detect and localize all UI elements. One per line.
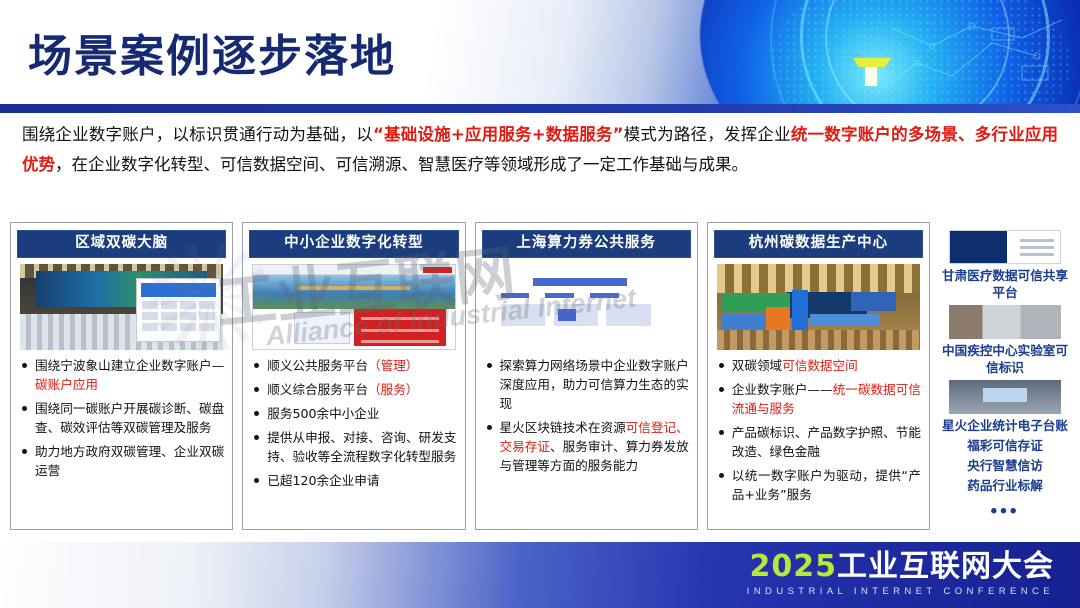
plain-text: 围绕企业数字账户，以标识贯通行动为基础，以 [22, 125, 373, 144]
plain-text: 顺义公共服务平台 [267, 358, 368, 373]
more-items-ellipsis: ••• [991, 501, 1020, 523]
case-label: 福彩可信存证 [967, 437, 1043, 454]
plain-text: 顺义综合服务平台 [267, 382, 368, 397]
plain-text: 已超120余企业申请 [267, 473, 379, 488]
plain-text: 双碳领域 [732, 358, 782, 373]
case-label: 中国疾控中心实验室可信标识 [941, 342, 1069, 376]
card-image-light-dashboard [485, 264, 688, 350]
card-image-ornate-hall [717, 264, 920, 350]
card-bullet-item: 助力地方政府双碳管理、企业双碳运营 [21, 442, 224, 480]
title-underline-bar [0, 104, 1080, 113]
case-label: 央行智慧信访 [967, 457, 1043, 474]
card-bullet-item: 已超120余企业申请 [253, 471, 456, 490]
case-card[interactable]: 上海算力券公共服务 探索算力网络场景中企业数字账户深度应用，助力可信算力生态的实… [475, 222, 698, 530]
case-label: 药品行业标解 [967, 477, 1043, 494]
plain-text: 企业数字账户—— [732, 382, 833, 397]
conference-t-logo-icon [849, 52, 895, 92]
case-card[interactable]: 区域双碳大脑 围绕宁波象山建立企业数字账户—碳账户应用围绕同一碳账户开展碳诊断、… [10, 222, 233, 530]
highlighted-text: 碳账户应用 [35, 377, 98, 392]
card-bullet-item: 企业数字账户——统一碳数据可信流通与服务 [718, 380, 921, 418]
highlighted-text: 可信数据空间 [782, 358, 858, 373]
plain-text: 以统一数字账户为驱动，提供“产品+业务”服务 [732, 468, 921, 502]
plain-text: 助力地方政府双碳管理、企业双碳运营 [35, 444, 224, 478]
page-title: 场景案例逐步落地 [28, 20, 396, 84]
card-bullet-item: 星火区块链技术在资源可信登记、交易存证、服务审计、算力券发放与管理等方面的服务能… [486, 418, 689, 475]
highlighted-text: （服务） [368, 382, 418, 397]
case-card[interactable]: 中小企业数字化转型 顺义公共服务平台（管理）顺义综合服务平台（服务）服务500余… [242, 222, 465, 530]
thumb-lab-equipment [949, 305, 1061, 339]
plain-text: 围绕宁波象山建立企业数字账户— [35, 358, 224, 373]
case-card[interactable]: 杭州碳数据生产中心 双碳领域可信数据空间企业数字账户——统一碳数据可信流通与服务… [707, 222, 930, 530]
slide-footer-banner: 2025工业互联网大会 INDUSTRIAL INTERNET CONFEREN… [0, 542, 1080, 608]
plain-text: ，在企业数字化转型、可信数据空间、可信溯源、智慧医疗等领域形成了一定工作基础与成… [55, 155, 748, 174]
thumb-meeting-room [949, 380, 1061, 414]
card-bullet-item: 提供从申报、对接、咨询、研发支持、验收等全流程数字化转型服务 [253, 428, 456, 466]
slide-root: 场景案例逐步落地 围绕企业数字账户，以标识贯通行动为基础，以“基础设施+应用服务… [0, 0, 1080, 608]
card-bullet-item: 围绕同一碳账户开展碳诊断、碳盘查、碳效评估等双碳管理及服务 [21, 399, 224, 437]
card-bullet-item: 顺义综合服务平台（服务） [253, 380, 456, 399]
card-bullet-item: 服务500余中小企业 [253, 404, 456, 423]
card-image-conference-hall [20, 264, 223, 350]
card-bullet-list: 探索算力网络场景中企业数字账户深度应用，助力可信算力生态的实现星火区块链技术在资… [486, 356, 689, 480]
footer-name-cn: 工业互联网大会 [837, 549, 1054, 584]
footer-name-en: INDUSTRIAL INTERNET CONFERENCE [747, 587, 1054, 597]
highlighted-text: （管理） [368, 358, 418, 373]
case-label: 星火企业统计电子台账 [942, 417, 1068, 434]
card-title: 区域双碳大脑 [17, 230, 226, 258]
card-bullet-list: 双碳领域可信数据空间企业数字账户——统一碳数据可信流通与服务产品碳标识、产品数字… [718, 356, 921, 509]
plain-text: 星火区块链技术在资源 [500, 420, 626, 435]
card-bullet-item: 顺义公共服务平台（管理） [253, 356, 456, 375]
thumb-presentation-document [949, 230, 1061, 264]
card-image-website-screenshot [252, 264, 455, 350]
card-bullet-list: 围绕宁波象山建立企业数字账户—碳账户应用围绕同一碳账户开展碳诊断、碳盘查、碳效评… [21, 356, 224, 485]
card-bullet-item: 围绕宁波象山建立企业数字账户—碳账户应用 [21, 356, 224, 394]
plain-text: 产品碳标识、产品数字护照、节能改造、绿色金融 [732, 425, 921, 459]
card-title: 上海算力券公共服务 [482, 230, 691, 258]
card-bullet-item: 产品碳标识、产品数字护照、节能改造、绿色金融 [718, 423, 921, 461]
card-bullet-list: 顺义公共服务平台（管理）顺义综合服务平台（服务）服务500余中小企业提供从申报、… [253, 356, 456, 495]
plain-text: 模式为路径，发挥企业 [624, 125, 791, 144]
conference-logo-lockup: 2025工业互联网大会 INDUSTRIAL INTERNET CONFEREN… [747, 552, 1054, 597]
plain-text: 服务500余中小企业 [267, 406, 379, 421]
card-bullet-item: 双碳领域可信数据空间 [718, 356, 921, 375]
card-title: 中小企业数字化转型 [249, 230, 458, 258]
plain-text: 提供从申报、对接、咨询、研发支持、验收等全流程数字化转型服务 [267, 430, 456, 464]
case-cards-row: 区域双碳大脑 围绕宁波象山建立企业数字账户—碳账户应用围绕同一碳账户开展碳诊断、… [10, 222, 930, 530]
plain-text: 围绕同一碳账户开展碳诊断、碳盘查、碳效评估等双碳管理及服务 [35, 401, 224, 435]
card-bullet-item: 以统一数字账户为驱动，提供“产品+业务”服务 [718, 466, 921, 504]
intro-paragraph: 围绕企业数字账户，以标识贯通行动为基础，以“基础设施+应用服务+数据服务”模式为… [22, 120, 1058, 180]
plain-text: 探索算力网络场景中企业数字账户深度应用，助力可信算力生态的实现 [500, 358, 689, 411]
highlighted-text: “基础设施+应用服务+数据服务” [373, 125, 624, 144]
additional-cases-column: 甘肃医疗数据可信共享平台 中国疾控中心实验室可信标识 星火企业统计电子台账 福彩… [938, 222, 1072, 530]
card-title: 杭州碳数据生产中心 [714, 230, 923, 258]
circuit-lines-graphic [872, 8, 1072, 108]
footer-year: 2025 [750, 549, 838, 584]
case-label: 甘肃医疗数据可信共享平台 [941, 267, 1069, 301]
card-bullet-item: 探索算力网络场景中企业数字账户深度应用，助力可信算力生态的实现 [486, 356, 689, 413]
